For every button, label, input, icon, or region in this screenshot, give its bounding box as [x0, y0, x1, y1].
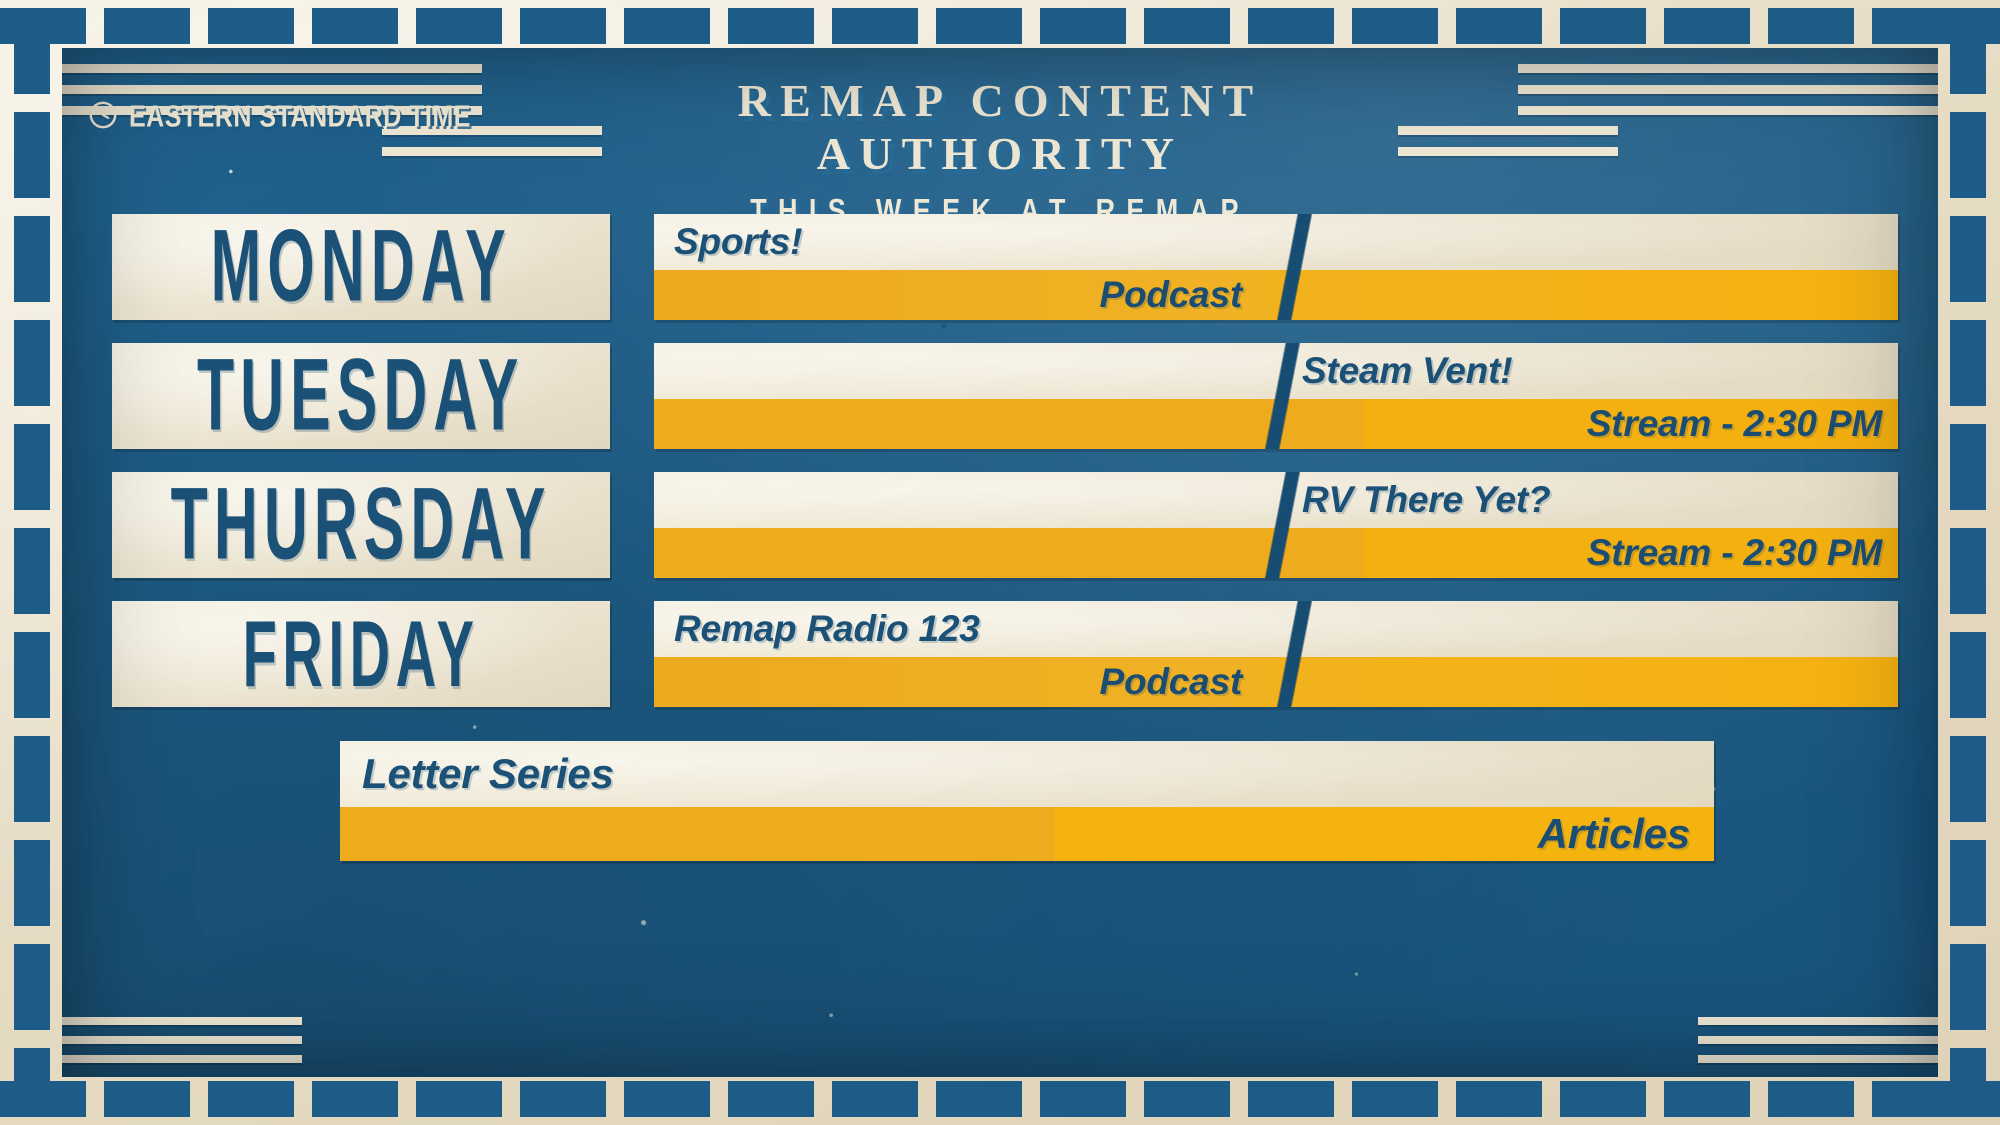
- border-bricks-top: [0, 8, 2000, 44]
- entry-kind: Stream - 2:30 PM: [1587, 528, 1882, 578]
- row-gap: [610, 343, 654, 449]
- title-line-1: REMAP CONTENT: [62, 78, 1938, 125]
- day-label: FRIDAY: [243, 611, 480, 697]
- schedule-row[interactable]: TUESDAY Steam Vent! Stream - 2:30 PM: [112, 343, 1898, 449]
- entry-card-top: [654, 214, 1898, 270]
- entry-title: Remap Radio 123: [674, 601, 980, 657]
- schedule-row[interactable]: THURSDAY RV There Yet? Stream - 2:30 PM: [112, 472, 1898, 578]
- schedule-row[interactable]: MONDAY Sports! Podcast: [112, 214, 1898, 320]
- entry-title: Steam Vent!: [1302, 343, 1512, 399]
- day-plate: TUESDAY: [112, 343, 610, 449]
- entry-card-bottom: [654, 657, 1898, 707]
- entry-kind: Podcast: [1099, 270, 1242, 320]
- row-gap: [610, 601, 654, 707]
- row-gap: [610, 214, 654, 320]
- title-line-2: AUTHORITY: [62, 131, 1938, 178]
- poster-field: EASTERN STANDARD TIME REMAP CONTENT AUTH…: [62, 48, 1938, 1077]
- border-bricks-bottom: [0, 1081, 2000, 1117]
- entry-kind: Stream - 2:30 PM: [1587, 399, 1882, 449]
- title-block: REMAP CONTENT AUTHORITY THIS WEEK AT REM…: [62, 78, 1938, 223]
- border-bricks-left: [14, 8, 50, 1117]
- day-label: TUESDAY: [197, 349, 525, 443]
- entry-card[interactable]: Remap Radio 123 Podcast: [654, 601, 1898, 707]
- feature-card-bottom: [340, 807, 1714, 861]
- entry-kind: Podcast: [1099, 657, 1242, 707]
- border-bricks-right: [1950, 8, 1986, 1117]
- entry-title: RV There Yet?: [1302, 472, 1550, 528]
- deco-rules-bottom-right: [1698, 1006, 1938, 1063]
- feature-row[interactable]: Letter Series Articles: [112, 741, 1898, 861]
- day-plate: THURSDAY: [112, 472, 610, 578]
- entry-title: Sports!: [674, 214, 802, 270]
- deco-rules-bottom-left: [62, 1006, 302, 1063]
- feature-spacer: [112, 741, 340, 861]
- schedule-list: MONDAY Sports! Podcast TUESDAY: [112, 214, 1898, 861]
- day-label: MONDAY: [210, 220, 511, 314]
- schedule-row[interactable]: FRIDAY Remap Radio 123 Podcast: [112, 601, 1898, 707]
- day-label: THURSDAY: [171, 478, 552, 572]
- day-plate: FRIDAY: [112, 601, 610, 707]
- entry-card[interactable]: RV There Yet? Stream - 2:30 PM: [654, 472, 1898, 578]
- entry-card[interactable]: Steam Vent! Stream - 2:30 PM: [654, 343, 1898, 449]
- feature-card[interactable]: Letter Series Articles: [340, 741, 1714, 861]
- entry-card-bottom: [654, 270, 1898, 320]
- feature-kind: Articles: [1538, 807, 1690, 861]
- row-gap: [610, 472, 654, 578]
- feature-title: Letter Series: [362, 741, 614, 807]
- entry-card[interactable]: Sports! Podcast: [654, 214, 1898, 320]
- poster-canvas: EASTERN STANDARD TIME REMAP CONTENT AUTH…: [0, 0, 2000, 1125]
- day-plate: MONDAY: [112, 214, 610, 320]
